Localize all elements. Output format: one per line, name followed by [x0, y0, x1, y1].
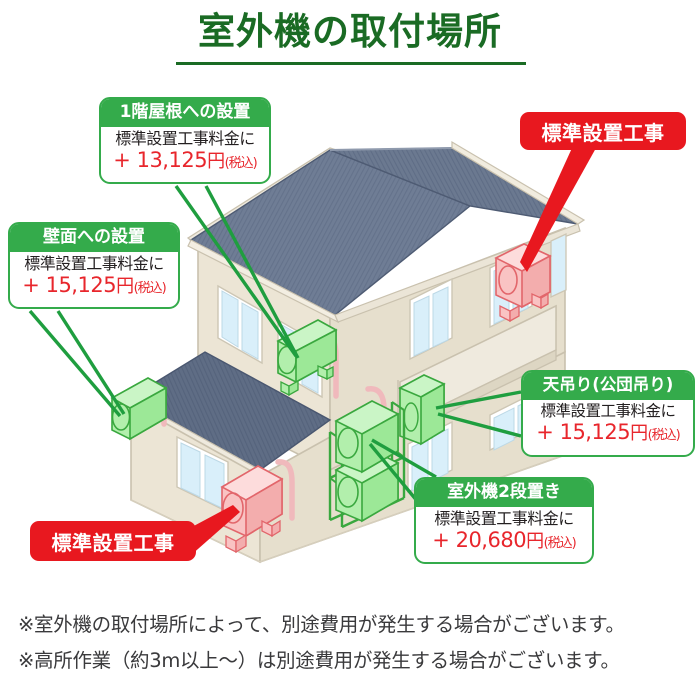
callout-two-tier-installation[interactable]: 室外機2段置き 標準設置工事料金に + 20,680円(税込) — [414, 477, 594, 564]
plus-sign: + — [536, 420, 553, 444]
callout-wall-installation[interactable]: 壁面への設置 標準設置工事料金に + 15,125円(税込) — [8, 222, 180, 309]
callout-header: 天吊り(公団吊り) — [523, 372, 693, 400]
leader-wall-a — [30, 311, 120, 416]
callout-base-text: 標準設置工事料金に — [523, 400, 693, 420]
callout-header: 室外機2段置き — [416, 479, 592, 507]
yen-symbol: 円 — [207, 151, 225, 172]
tax-note: (税込) — [225, 156, 257, 171]
yen-symbol: 円 — [526, 531, 544, 552]
callout-base-text: 標準設置工事料金に — [416, 507, 592, 527]
footnote-location-fee: ※室外機の取付場所によって、別途費用が発生する場合がございます。 — [18, 608, 625, 637]
window-group-upper-right-small — [551, 234, 566, 297]
tax-note: (税込) — [134, 281, 166, 296]
footnote-high-work-fee: ※高所作業（約3m以上〜）は別途費用が発生する場合がございます。 — [18, 644, 620, 673]
price-amount: 15,125 — [46, 273, 116, 297]
plus-sign: + — [113, 148, 130, 172]
yen-symbol: 円 — [630, 423, 648, 444]
tax-note: (税込) — [544, 536, 576, 551]
yen-symbol: 円 — [116, 276, 134, 297]
callout-price: + 15,125円(税込) — [523, 419, 693, 447]
ceiling-hung-unit — [400, 375, 444, 444]
callout-ceiling-hung-installation[interactable]: 天吊り(公団吊り) 標準設置工事料金に + 15,125円(税込) — [521, 370, 695, 457]
callout-base-text: 標準設置工事料金に — [10, 252, 178, 272]
plus-sign: + — [22, 273, 39, 297]
callout-base-text: 標準設置工事料金に — [101, 127, 269, 147]
callout-roof-installation[interactable]: 1階屋根への設置 標準設置工事料金に + 13,125円(税込) — [99, 97, 271, 184]
badge-standard-installation-bottom[interactable]: 標準設置工事 — [30, 521, 196, 561]
tax-note: (税込) — [648, 428, 680, 443]
callout-price: + 13,125円(税込) — [101, 147, 269, 175]
callout-price: + 20,680円(税込) — [416, 527, 592, 555]
leader-wall-b — [58, 311, 124, 414]
price-amount: 15,125 — [560, 420, 630, 444]
callout-price: + 15,125円(税込) — [10, 272, 178, 300]
callout-header: 壁面への設置 — [10, 224, 178, 252]
infographic-canvas: 室外機の取付場所 — [0, 0, 700, 700]
price-amount: 20,680 — [456, 528, 526, 552]
price-amount: 13,125 — [137, 148, 207, 172]
callout-header: 1階屋根への設置 — [101, 99, 269, 127]
badge-standard-installation-top[interactable]: 標準設置工事 — [520, 112, 686, 150]
plus-sign: + — [432, 528, 449, 552]
